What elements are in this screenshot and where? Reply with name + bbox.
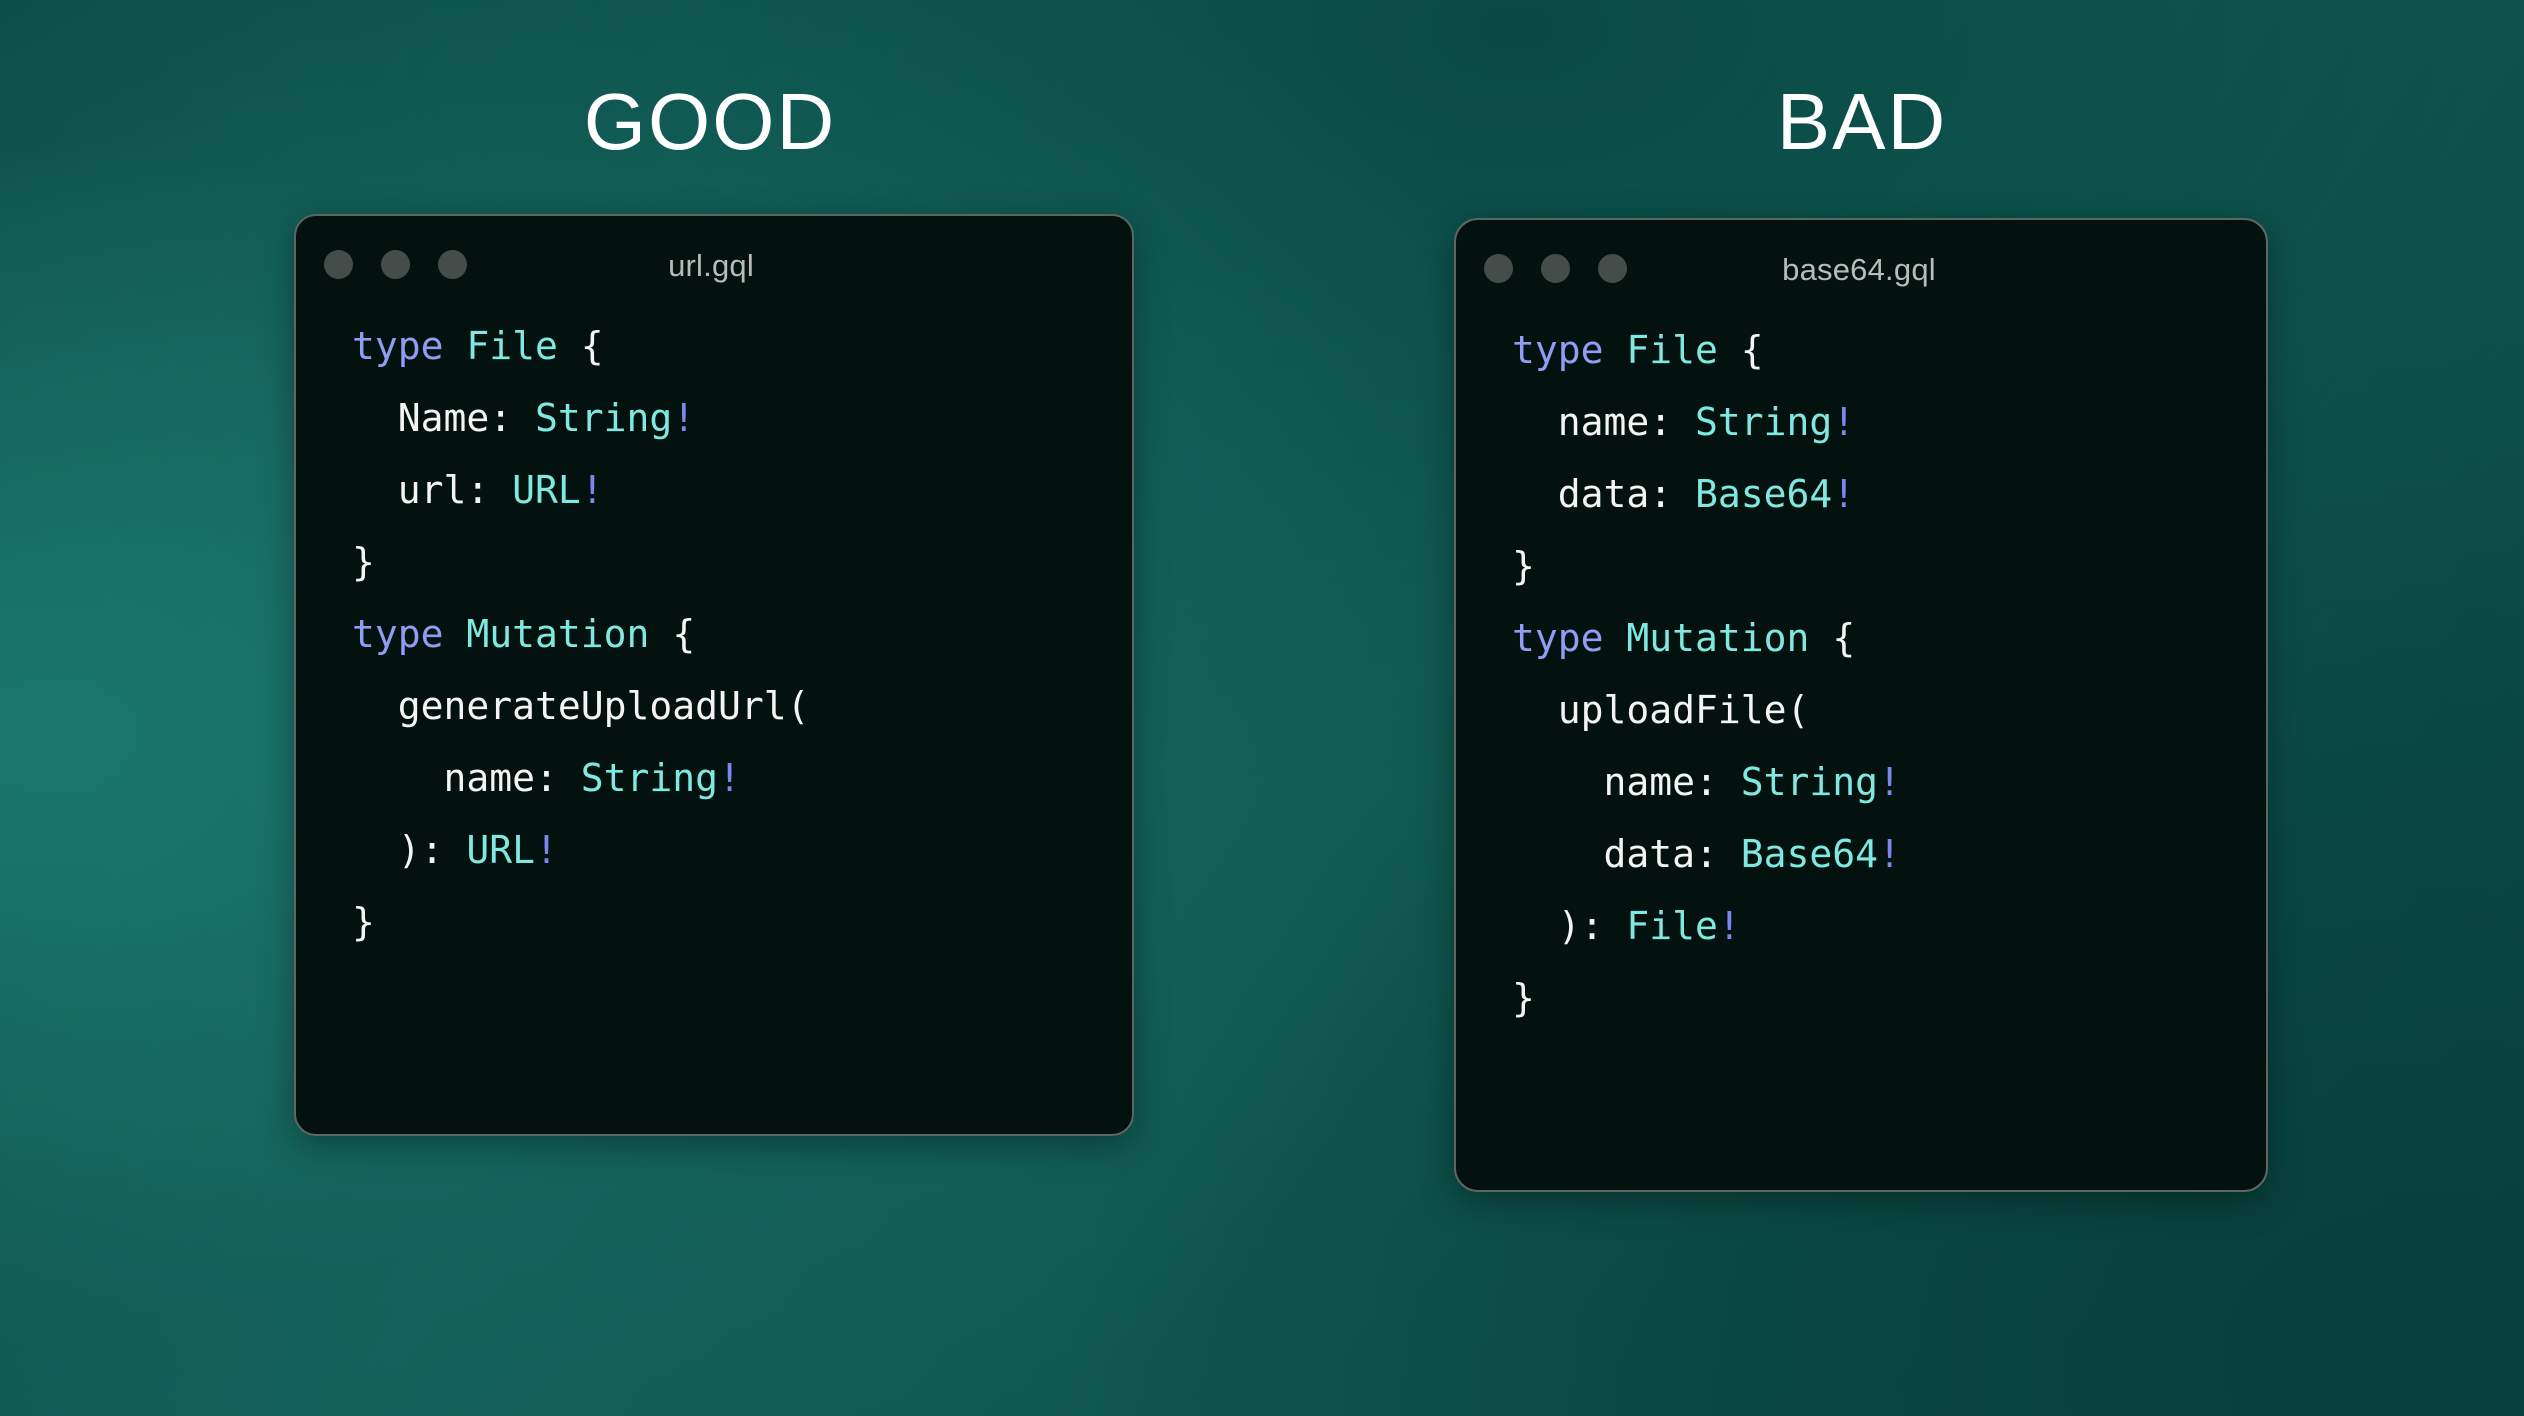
code-token-plain xyxy=(1604,904,1627,948)
filename-label-good: url.gql xyxy=(296,248,1132,284)
code-token-bang: ! xyxy=(1832,400,1855,444)
code-token-bang: ! xyxy=(1718,904,1741,948)
code-token-kw: type xyxy=(1512,616,1604,660)
code-token-type: File xyxy=(1626,904,1718,948)
good-heading: GOOD xyxy=(584,82,836,162)
code-line: } xyxy=(1512,530,2266,602)
code-line: ): File! xyxy=(1512,890,2266,962)
code-token-punc: { xyxy=(1718,328,1764,372)
code-token-plain: generateUploadUrl( xyxy=(352,684,810,728)
code-token-type: URL xyxy=(512,468,581,512)
comparison-slide: GOOD BAD url.gql type File { Name: Strin… xyxy=(0,0,2524,1416)
code-window-bad: base64.gql type File { name: String! dat… xyxy=(1454,218,2268,1192)
code-line: name: String! xyxy=(1512,386,2266,458)
code-token-bang: ! xyxy=(672,396,695,440)
code-line: type Mutation { xyxy=(352,598,1132,670)
code-token-kw: type xyxy=(352,324,444,368)
code-token-type: Base64 xyxy=(1695,472,1832,516)
code-token-plain: ): xyxy=(352,828,444,872)
code-line: ): URL! xyxy=(352,814,1132,886)
code-token-type: String xyxy=(1741,760,1878,804)
code-token-kw: type xyxy=(352,612,444,656)
code-line: } xyxy=(1512,962,2266,1034)
code-token-punc: { xyxy=(649,612,695,656)
code-token-plain xyxy=(1718,760,1741,804)
code-token-plain xyxy=(444,324,467,368)
bad-heading: BAD xyxy=(1777,82,1948,162)
code-token-bang: ! xyxy=(1878,832,1901,876)
code-line: name: String! xyxy=(1512,746,2266,818)
code-line: data: Base64! xyxy=(1512,458,2266,530)
code-token-plain: data: xyxy=(1512,472,1672,516)
code-token-type: File xyxy=(1626,328,1718,372)
code-line: url: URL! xyxy=(352,454,1132,526)
code-token-punc: } xyxy=(352,900,375,944)
code-token-plain: ): xyxy=(1512,904,1604,948)
code-token-type: String xyxy=(581,756,718,800)
code-token-plain xyxy=(444,612,467,656)
code-token-plain xyxy=(489,468,512,512)
code-token-bang: ! xyxy=(1832,472,1855,516)
window-titlebar-good: url.gql xyxy=(296,216,1132,310)
code-token-bang: ! xyxy=(581,468,604,512)
code-token-plain xyxy=(1604,616,1627,660)
window-titlebar-bad: base64.gql xyxy=(1456,220,2266,314)
code-line: type Mutation { xyxy=(1512,602,2266,674)
code-token-bang: ! xyxy=(1878,760,1901,804)
code-token-plain xyxy=(512,396,535,440)
code-token-punc: { xyxy=(1809,616,1855,660)
code-token-plain: Name: xyxy=(352,396,512,440)
code-token-type: Base64 xyxy=(1741,832,1878,876)
code-line: Name: String! xyxy=(352,382,1132,454)
code-token-plain: name: xyxy=(1512,760,1718,804)
filename-label-bad: base64.gql xyxy=(1456,252,2266,288)
code-token-type: File xyxy=(466,324,558,368)
code-token-plain: uploadFile( xyxy=(1512,688,1809,732)
code-token-punc: } xyxy=(1512,976,1535,1020)
code-line: type File { xyxy=(352,310,1132,382)
code-line: uploadFile( xyxy=(1512,674,2266,746)
code-token-plain xyxy=(1672,472,1695,516)
code-token-plain: data: xyxy=(1512,832,1718,876)
code-token-punc: } xyxy=(352,540,375,584)
code-token-bang: ! xyxy=(535,828,558,872)
code-line: name: String! xyxy=(352,742,1132,814)
code-block-bad: type File { name: String! data: Base64!}… xyxy=(1456,314,2266,1034)
code-token-punc: { xyxy=(558,324,604,368)
code-token-plain xyxy=(1604,328,1627,372)
code-token-type: String xyxy=(535,396,672,440)
code-token-plain: name: xyxy=(1512,400,1672,444)
code-window-good: url.gql type File { Name: String! url: U… xyxy=(294,214,1134,1136)
code-token-bang: ! xyxy=(718,756,741,800)
code-token-plain xyxy=(1718,832,1741,876)
code-line: type File { xyxy=(1512,314,2266,386)
code-line: } xyxy=(352,526,1132,598)
code-token-plain: url: xyxy=(352,468,489,512)
code-token-plain xyxy=(1672,400,1695,444)
code-token-type: String xyxy=(1695,400,1832,444)
code-token-kw: type xyxy=(1512,328,1604,372)
code-token-punc: } xyxy=(1512,544,1535,588)
code-token-type: URL xyxy=(466,828,535,872)
code-token-plain: name: xyxy=(352,756,558,800)
code-token-plain xyxy=(558,756,581,800)
code-token-type: Mutation xyxy=(466,612,649,656)
code-line: data: Base64! xyxy=(1512,818,2266,890)
code-line: } xyxy=(352,886,1132,958)
code-token-type: Mutation xyxy=(1626,616,1809,660)
code-block-good: type File { Name: String! url: URL!}type… xyxy=(296,310,1132,958)
code-line: generateUploadUrl( xyxy=(352,670,1132,742)
code-token-plain xyxy=(444,828,467,872)
